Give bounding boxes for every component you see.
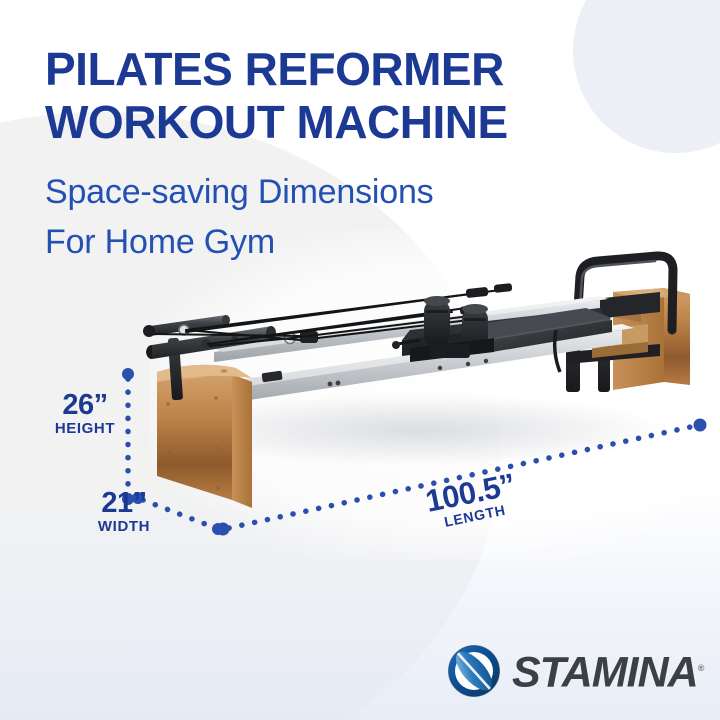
poster-canvas: PILATES REFORMER WORKOUT MACHINE Space-s… bbox=[0, 0, 720, 720]
brand-trademark: ® bbox=[698, 663, 704, 673]
brand-wordmark-text: STAMINA bbox=[512, 649, 698, 697]
dimension-value-height: 26” bbox=[46, 390, 124, 420]
dimension-label-width: 21” WIDTH bbox=[84, 488, 164, 535]
dimension-caption-width: WIDTH bbox=[84, 518, 164, 535]
dimension-caption-height: HEIGHT bbox=[46, 420, 124, 437]
dimension-leaders bbox=[0, 0, 720, 720]
dimension-label-height: 26” HEIGHT bbox=[46, 390, 124, 437]
brand-wordmark: STAMINA® bbox=[512, 647, 703, 694]
brand-logo: STAMINA® bbox=[446, 642, 703, 700]
stamina-circle-logo-icon bbox=[446, 643, 502, 699]
dimension-value-width: 21” bbox=[84, 488, 164, 518]
